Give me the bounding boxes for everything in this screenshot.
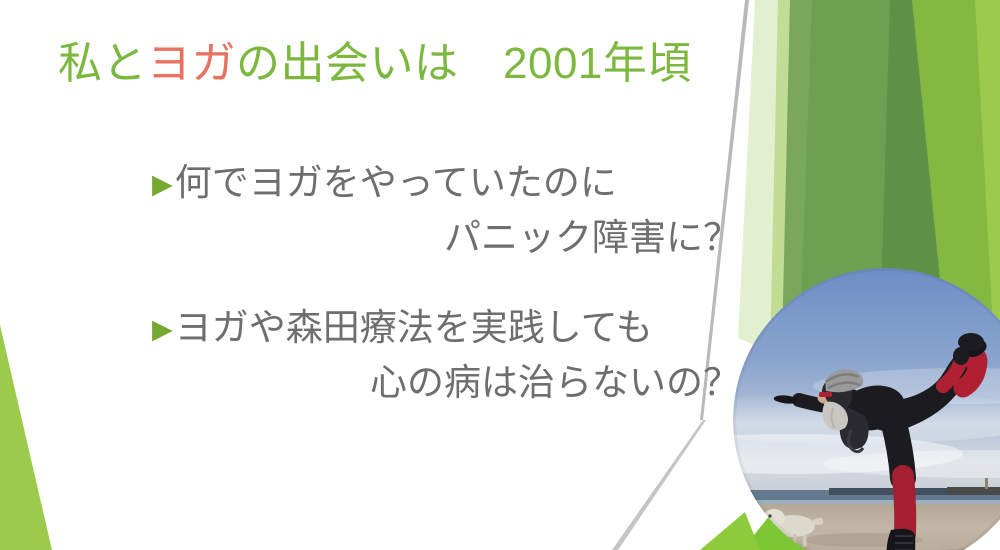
shoreline-rocks <box>829 488 947 495</box>
slide-title: 私とヨガの出会いは 2001年頃 <box>58 38 692 90</box>
shoreline-rocks <box>947 487 1000 495</box>
bullet-item-1-line-2: パニック障害に？ <box>152 215 772 262</box>
beach-yoga-photo <box>733 268 1000 550</box>
triangle-bullet-icon: ▶ <box>152 316 173 343</box>
distant-structure <box>985 478 988 489</box>
bullet-item-2-line-2: 心の病は治らないの？ <box>152 360 772 407</box>
bullet-item-2: ▶ ヨガや森田療法を実践しても 心の病は治らないの？ <box>152 305 772 406</box>
bottom-wedge-shape-2 <box>700 512 760 550</box>
hairline-bottom-shape <box>612 420 706 550</box>
bullet-list: ▶ 何でヨガをやっていたのに パニック障害に？ ▶ ヨガや森田療法を実践しても … <box>152 160 772 406</box>
triangle-bullet-icon: ▶ <box>152 171 173 198</box>
bullet-item-1-text: 何でヨガをやっていたのに <box>175 160 617 207</box>
title-segment-accent: ヨガ <box>147 39 236 88</box>
title-segment-3: の出会いは 2001年頃 <box>236 39 692 88</box>
bullet-item-2-line-1: ▶ ヨガや森田療法を実践しても <box>152 305 772 352</box>
bullet-item-1: ▶ 何でヨガをやっていたのに パニック障害に？ <box>152 160 772 261</box>
bullet-item-1-line-1: ▶ 何でヨガをやっていたのに <box>152 160 772 207</box>
left-wedge-shape <box>0 325 52 550</box>
slide-canvas: 私とヨガの出会いは 2001年頃 ▶ 何でヨガをやっていたのに パニック障害に？… <box>0 0 1000 550</box>
title-segment-1: 私と <box>58 39 147 88</box>
bullet-item-2-text: ヨガや森田療法を実践しても <box>175 305 653 352</box>
